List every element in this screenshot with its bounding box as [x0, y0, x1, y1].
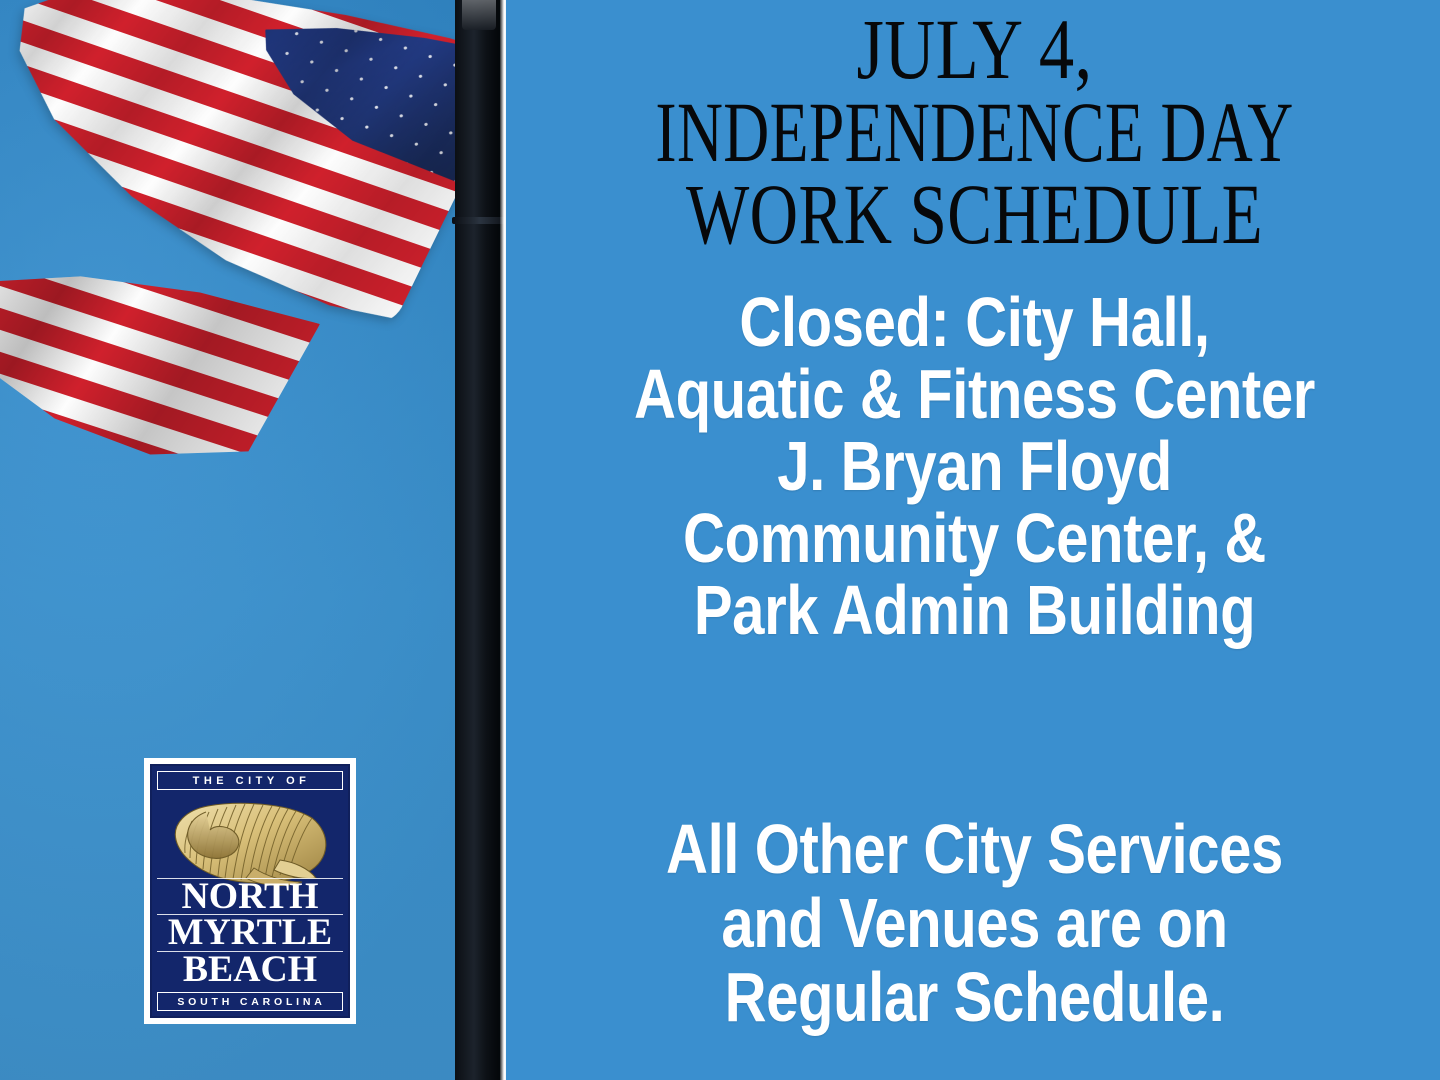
city-logo-top-label: THE CITY OF	[157, 771, 343, 790]
flagpole-truck	[462, 0, 496, 30]
poster-canvas: THE CITY OF	[0, 0, 1440, 1080]
wordmark-line-beach: BEACH	[157, 951, 343, 987]
closed-line-3: J. Bryan Floyd	[588, 430, 1361, 502]
regular-line-2: and Venues are on	[588, 886, 1361, 960]
page-title: JULY 4, INDEPENDENCE DAY WORK SCHEDULE	[509, 8, 1440, 256]
city-logo: THE CITY OF	[144, 758, 356, 1024]
text-column: JULY 4, INDEPENDENCE DAY WORK SCHEDULE C…	[509, 0, 1440, 1080]
photo-edge-seam	[500, 0, 506, 1080]
title-line-schedule: WORK SCHEDULE	[611, 173, 1337, 256]
wordmark-line-north: NORTH	[157, 878, 343, 914]
closed-line-4: Community Center, &	[588, 502, 1361, 574]
closed-line-5: Park Admin Building	[588, 574, 1361, 646]
wordmark-line-myrtle: MYRTLE	[157, 914, 343, 950]
regular-line-3: Regular Schedule.	[588, 960, 1361, 1034]
title-line-holiday: INDEPENDENCE DAY	[630, 91, 1319, 174]
flagpole-halyard-ring	[452, 217, 506, 224]
american-flag	[0, 24, 506, 584]
regular-line-1: All Other City Services	[588, 812, 1361, 886]
city-logo-emblem-area: NORTH MYRTLE BEACH	[157, 794, 343, 988]
regular-schedule-block: All Other City Services and Venues are o…	[509, 812, 1440, 1035]
closed-locations-block: Closed: City Hall, Aquatic & Fitness Cen…	[509, 286, 1440, 646]
closed-line-2: Aquatic & Fitness Center	[588, 358, 1361, 430]
flagpole	[455, 0, 505, 1080]
city-logo-bottom-label: SOUTH CAROLINA	[157, 992, 343, 1011]
city-wordmark: NORTH MYRTLE BEACH	[157, 878, 343, 987]
closed-line-1: Closed: City Hall,	[588, 286, 1361, 358]
title-line-date: JULY 4,	[593, 8, 1356, 91]
city-logo-frame: THE CITY OF	[150, 764, 350, 1018]
